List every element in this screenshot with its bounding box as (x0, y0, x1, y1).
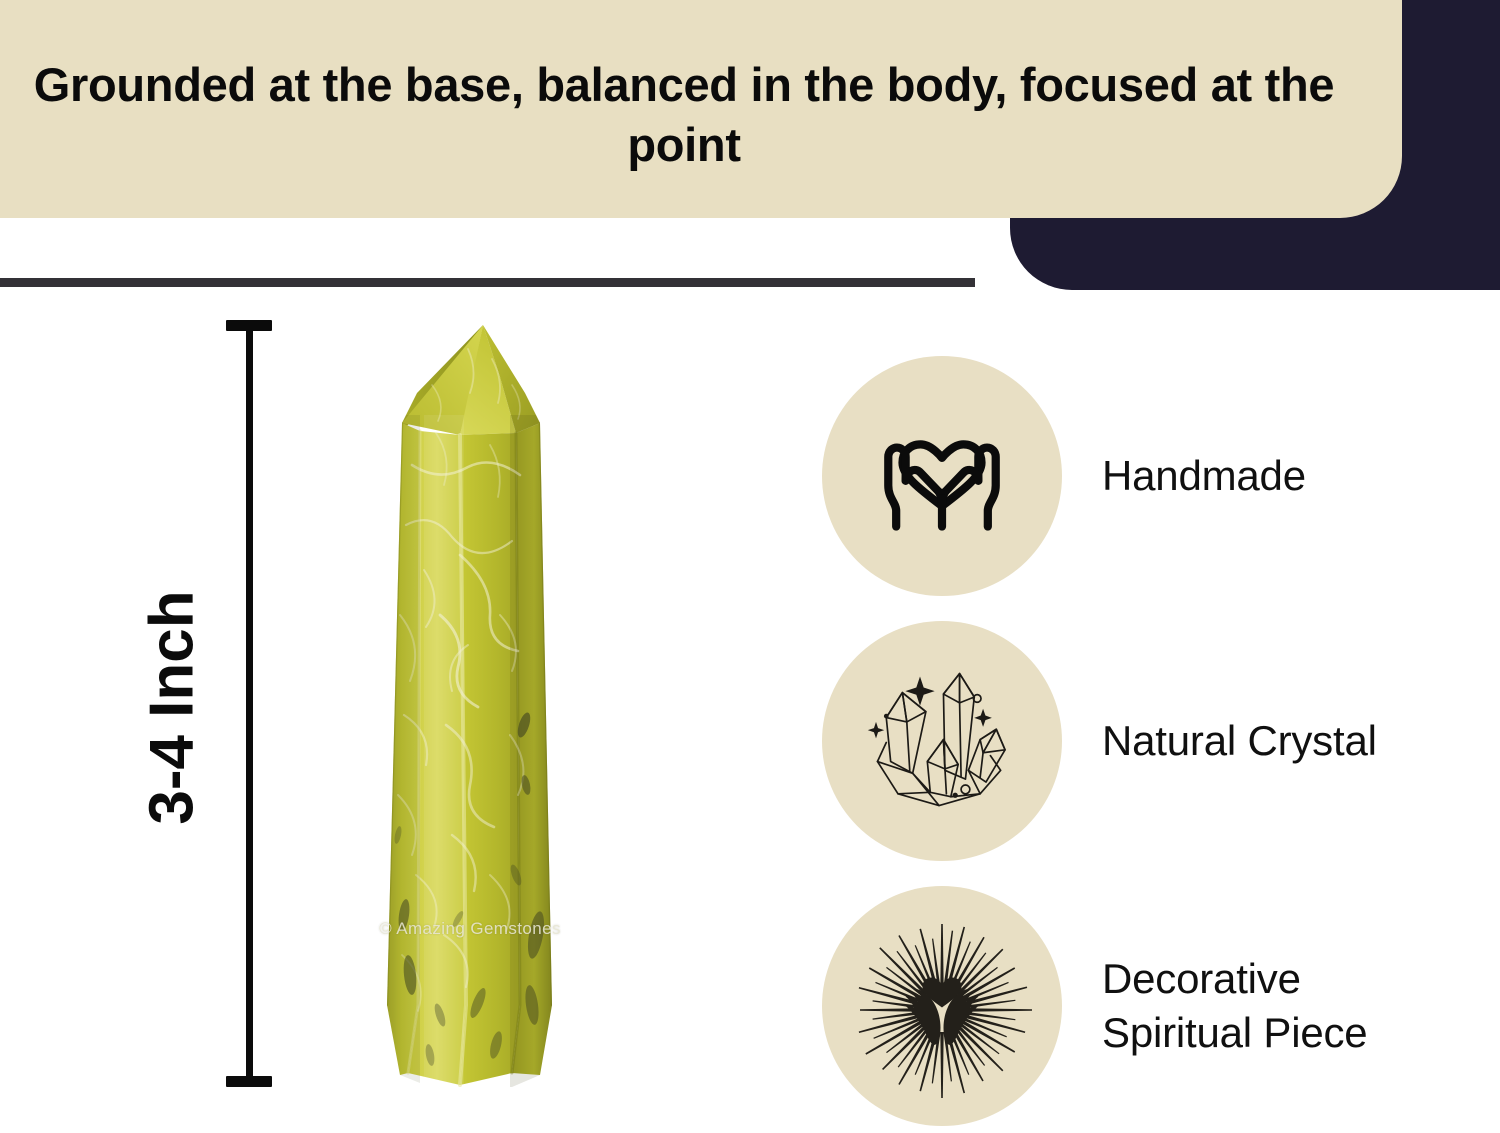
product-image: © Amazing Gemstones (340, 315, 600, 1095)
radiating-hands-heart-icon (842, 906, 1042, 1106)
feature-label-line1: Handmade (1102, 452, 1306, 499)
feature-badge-circle (822, 886, 1062, 1126)
feature-label-natural-crystal: Natural Crystal (1102, 714, 1377, 768)
dimension-label: 3-4 Inch (137, 498, 208, 918)
feature-label-decorative-spiritual: Decorative Spiritual Piece (1102, 952, 1367, 1060)
feature-label-line2: Spiritual Piece (1102, 1006, 1367, 1060)
hands-holding-heart-icon (863, 397, 1021, 555)
feature-badge-circle (822, 356, 1062, 596)
feature-row-handmade: Handmade (822, 348, 1482, 603)
header-banner: Grounded at the base, balanced in the bo… (0, 0, 1402, 218)
feature-row-decorative-spiritual: Decorative Spiritual Piece (822, 878, 1482, 1133)
dimension-cap-bottom (226, 1076, 272, 1087)
feature-label-handmade: Handmade (1102, 449, 1306, 503)
watermark-text: © Amazing Gemstones (330, 919, 610, 939)
crystal-tower-illustration (340, 315, 600, 1095)
feature-label-line1: Natural Crystal (1102, 717, 1377, 764)
feature-list: Handmade (822, 348, 1482, 1133)
crystal-cluster-icon (854, 653, 1030, 829)
infographic-canvas: Grounded at the base, balanced in the bo… (0, 0, 1500, 1125)
feature-row-natural-crystal: Natural Crystal (822, 613, 1482, 868)
section-divider (0, 278, 975, 287)
feature-badge-circle (822, 621, 1062, 861)
page-title: Grounded at the base, balanced in the bo… (22, 55, 1346, 174)
dimension-line (246, 323, 253, 1085)
feature-label-line1: Decorative (1102, 955, 1301, 1002)
